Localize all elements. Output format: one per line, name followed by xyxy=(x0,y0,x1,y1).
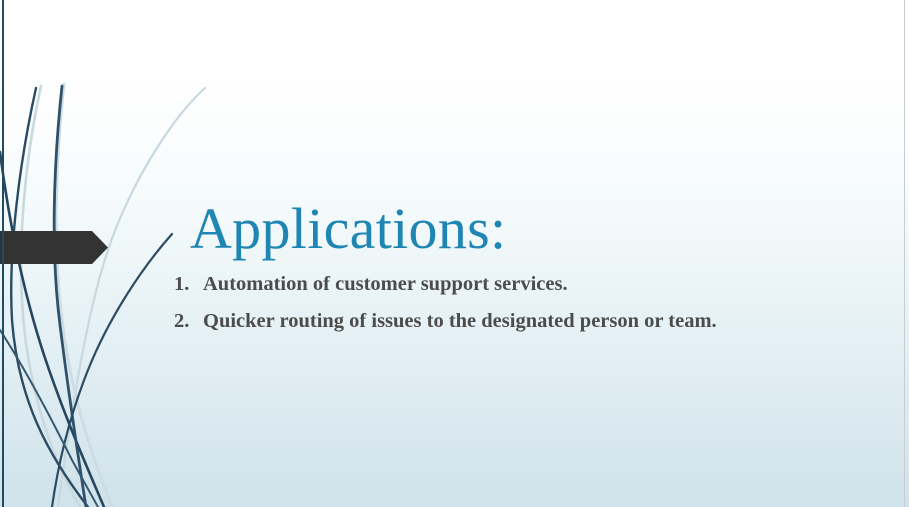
numbered-list: 1. Automation of customer support servic… xyxy=(174,274,874,347)
wisp-light-strand-3 xyxy=(56,84,112,507)
wisp-navy-strand-3 xyxy=(54,86,86,507)
left-edge-rule xyxy=(2,0,4,507)
list-item: 2. Quicker routing of issues to the desi… xyxy=(174,311,874,332)
slide-title: Applications: xyxy=(190,199,506,260)
wisp-navy-strand-4 xyxy=(52,234,172,507)
list-item-marker: 1. xyxy=(174,274,203,295)
list-item-text: Automation of customer support services. xyxy=(203,274,568,295)
list-item: 1. Automation of customer support servic… xyxy=(174,274,874,295)
right-edge-rule xyxy=(904,0,905,507)
list-item-text: Quicker routing of issues to the designa… xyxy=(203,311,717,332)
wisp-navy-strand-1 xyxy=(11,88,88,507)
slide-canvas: Applications: 1. Automation of customer … xyxy=(0,0,909,507)
wisp-navy-strand-5 xyxy=(0,330,98,507)
wisp-navy-strand-2 xyxy=(0,152,104,507)
list-item-marker: 2. xyxy=(174,311,203,332)
wisp-light-strand-2 xyxy=(21,86,80,507)
chevron-banner-accent xyxy=(0,231,108,264)
